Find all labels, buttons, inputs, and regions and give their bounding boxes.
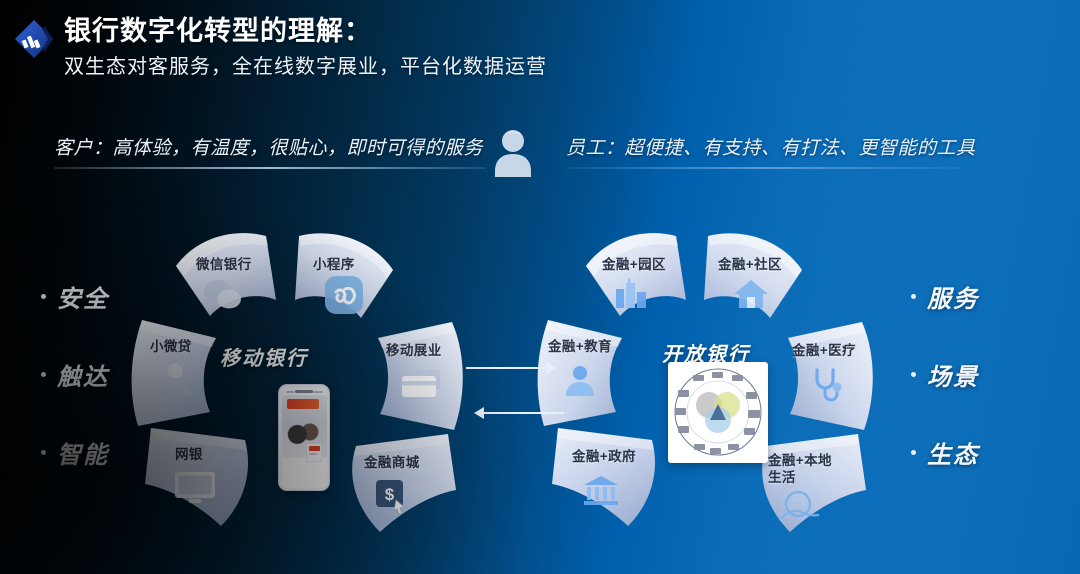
list-item: 服务 bbox=[911, 284, 979, 308]
petal-label: 小微贷 bbox=[150, 338, 192, 355]
stethoscope-icon bbox=[810, 368, 844, 404]
petal-label: 小程序 bbox=[313, 256, 355, 273]
house-icon bbox=[732, 278, 770, 310]
list-item: 安全 bbox=[41, 284, 109, 308]
cluster-left-title: 移动银行 bbox=[220, 342, 308, 371]
list-item: 场景 bbox=[911, 362, 979, 386]
desktop-monitor-icon bbox=[173, 470, 217, 506]
petal-finance-medical[interactable]: 金融+医疗 bbox=[770, 318, 882, 442]
chat-bubbles-icon bbox=[202, 278, 244, 311]
dollar-shopping-icon: $ bbox=[374, 478, 414, 516]
bullet-dot-icon bbox=[41, 294, 46, 299]
petal-label: 移动展业 bbox=[386, 342, 442, 359]
bullet-label: 安全 bbox=[57, 279, 109, 314]
petal-internet-bank[interactable]: 网银 bbox=[145, 422, 269, 532]
left-keyword-list: 安全 触达 智能 bbox=[41, 284, 109, 518]
petal-label: 金融+本地生活 bbox=[768, 452, 842, 486]
petal-label: 网银 bbox=[175, 446, 203, 463]
local-life-icon bbox=[776, 490, 820, 524]
bank-card-icon bbox=[400, 368, 444, 400]
brand-diamond-logo bbox=[11, 16, 57, 62]
buildings-icon bbox=[612, 278, 652, 308]
petal-micro-loan[interactable]: 小微贷 bbox=[128, 314, 234, 436]
ecosystem-circle-diagram bbox=[668, 362, 768, 463]
bullet-label: 生态 bbox=[927, 435, 979, 470]
bullet-dot-icon bbox=[911, 372, 916, 377]
petal-label: 金融+政府 bbox=[572, 448, 636, 465]
bullet-dot-icon bbox=[41, 450, 46, 455]
government-building-icon bbox=[582, 474, 620, 506]
employee-statement: 员工：超便捷、有支持、有打法、更智能的工具 bbox=[566, 133, 976, 160]
mobile-phone-app-mockup bbox=[278, 384, 330, 491]
bullet-label: 场景 bbox=[927, 357, 979, 392]
petal-label: 金融+社区 bbox=[718, 256, 782, 273]
petal-label: 金融+医疗 bbox=[792, 342, 856, 359]
list-item: 智能 bbox=[41, 440, 109, 464]
list-item: 生态 bbox=[911, 440, 979, 464]
slide-canvas: 银行数字化转型的理解： 双生态对客服务，全在线数字展业，平台化数据运营 客户：高… bbox=[0, 0, 1080, 574]
petal-finance-government[interactable]: 金融+政府 bbox=[552, 422, 676, 532]
bullet-label: 触达 bbox=[57, 357, 109, 392]
petal-label: 微信银行 bbox=[196, 256, 252, 273]
bullet-dot-icon bbox=[911, 450, 916, 455]
user-loan-icon bbox=[156, 362, 194, 396]
petal-finance-mall[interactable]: 金融商城 $ bbox=[330, 426, 456, 538]
customer-underline bbox=[54, 167, 486, 169]
mobile-bank-cluster: 微信银行 小程序 bbox=[128, 226, 488, 538]
list-item: 触达 bbox=[41, 362, 109, 386]
title-block: 银行数字化转型的理解： 双生态对客服务，全在线数字展业，平台化数据运营 bbox=[64, 14, 547, 82]
bullet-dot-icon bbox=[911, 294, 916, 299]
petal-label: 金融商城 bbox=[364, 454, 420, 471]
right-keyword-list: 服务 场景 生态 bbox=[911, 284, 979, 518]
svg-text:$: $ bbox=[385, 485, 395, 504]
petal-mobile-marketing[interactable]: 移动展业 bbox=[360, 318, 472, 442]
bullet-label: 智能 bbox=[57, 435, 109, 470]
page-subtitle: 双生态对客服务，全在线数字展业，平台化数据运营 bbox=[64, 52, 547, 82]
person-avatar-icon bbox=[491, 127, 535, 177]
bidirectional-arrows bbox=[460, 352, 570, 427]
bullet-dot-icon bbox=[41, 372, 46, 377]
customer-statement: 客户：高体验，有温度，很贴心，即时可得的服务 bbox=[54, 133, 483, 160]
page-title: 银行数字化转型的理解： bbox=[64, 14, 547, 48]
bullet-label: 服务 bbox=[927, 279, 979, 314]
mini-program-icon bbox=[325, 276, 363, 314]
open-bank-cluster: 金融+园区 金融+社区 bbox=[530, 226, 902, 538]
employee-underline bbox=[566, 167, 960, 169]
petal-label: 金融+园区 bbox=[602, 256, 666, 273]
